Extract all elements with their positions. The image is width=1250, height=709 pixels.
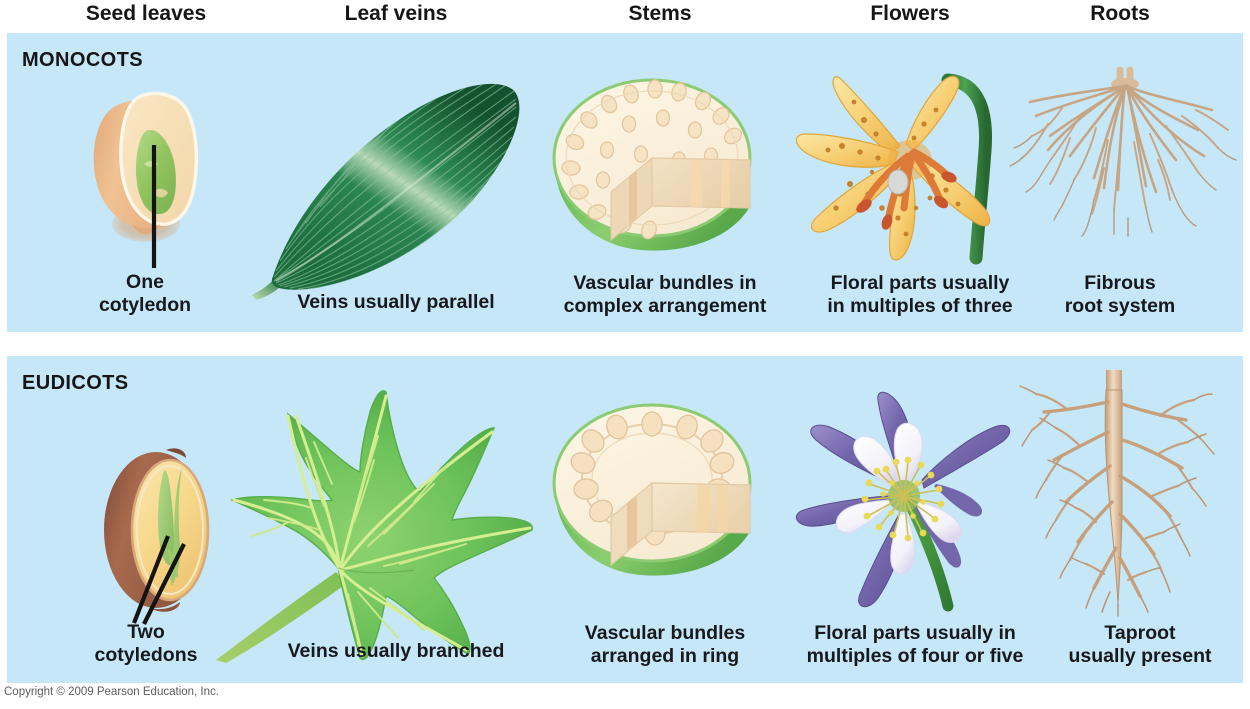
caption-monocot-leaf-veins: Veins usually parallel (256, 291, 536, 314)
eudicot-root-illustration (1010, 368, 1242, 618)
monocot-leaf-illustration (250, 55, 550, 300)
monocot-seed-illustration (78, 72, 228, 272)
column-header-row: Seed leaves Leaf veins Stems Flowers Roo… (0, 0, 1250, 33)
caption-eudicot-flowers: Floral parts usually in multiples of fou… (782, 622, 1048, 668)
caption-line: Veins usually branched (256, 640, 536, 663)
caption-monocot-seed-leaves: One cotyledon (70, 271, 220, 317)
caption-line: arranged in ring (550, 645, 780, 668)
eudicot-stem-illustration (545, 393, 775, 593)
caption-eudicot-stems: Vascular bundles arranged in ring (550, 622, 780, 668)
caption-line: multiples of four or five (782, 645, 1048, 668)
caption-line: cotyledon (70, 294, 220, 317)
caption-line: root system (1030, 295, 1210, 318)
caption-monocot-roots: Fibrous root system (1030, 272, 1210, 318)
copyright-notice: Copyright © 2009 Pearson Education, Inc. (4, 686, 219, 698)
caption-line: in multiples of three (800, 295, 1040, 318)
caption-line: cotyledons (66, 644, 226, 667)
caption-eudicot-roots: Taproot usually present (1040, 622, 1240, 668)
caption-eudicot-leaf-veins: Veins usually branched (256, 640, 536, 663)
caption-line: Fibrous (1030, 272, 1210, 295)
caption-eudicot-seed-leaves: Two cotyledons (66, 621, 226, 667)
monocot-root-illustration (1008, 68, 1240, 258)
caption-line: usually present (1040, 645, 1240, 668)
monocot-stem-illustration (545, 68, 775, 268)
column-header-flowers: Flowers (820, 2, 1000, 26)
column-header-leaf-veins: Leaf veins (296, 2, 496, 26)
eudicot-leaf-illustration (208, 388, 538, 663)
monocot-eudicot-comparison-figure: Seed leaves Leaf veins Stems Flowers Roo… (0, 0, 1250, 709)
caption-monocot-flowers: Floral parts usually in multiples of thr… (800, 272, 1040, 318)
row-label-monocots: MONOCOTS (22, 49, 143, 72)
caption-line: Veins usually parallel (256, 291, 536, 314)
caption-line: Taproot (1040, 622, 1240, 645)
caption-line: complex arrangement (545, 295, 785, 318)
column-header-stems: Stems (570, 2, 750, 26)
caption-line: Floral parts usually in (782, 622, 1048, 645)
row-label-eudicots: EUDICOTS (22, 372, 129, 395)
caption-line: Vascular bundles (550, 622, 780, 645)
monocot-flower-illustration (780, 58, 1020, 273)
caption-line: Floral parts usually (800, 272, 1040, 295)
column-header-roots: Roots (1030, 2, 1210, 26)
eudicot-flower-illustration (788, 392, 1038, 622)
caption-line: Two (66, 621, 226, 644)
column-header-seed-leaves: Seed leaves (46, 2, 246, 26)
caption-line: Vascular bundles in (545, 272, 785, 295)
caption-line: One (70, 271, 220, 294)
caption-monocot-stems: Vascular bundles in complex arrangement (545, 272, 785, 318)
